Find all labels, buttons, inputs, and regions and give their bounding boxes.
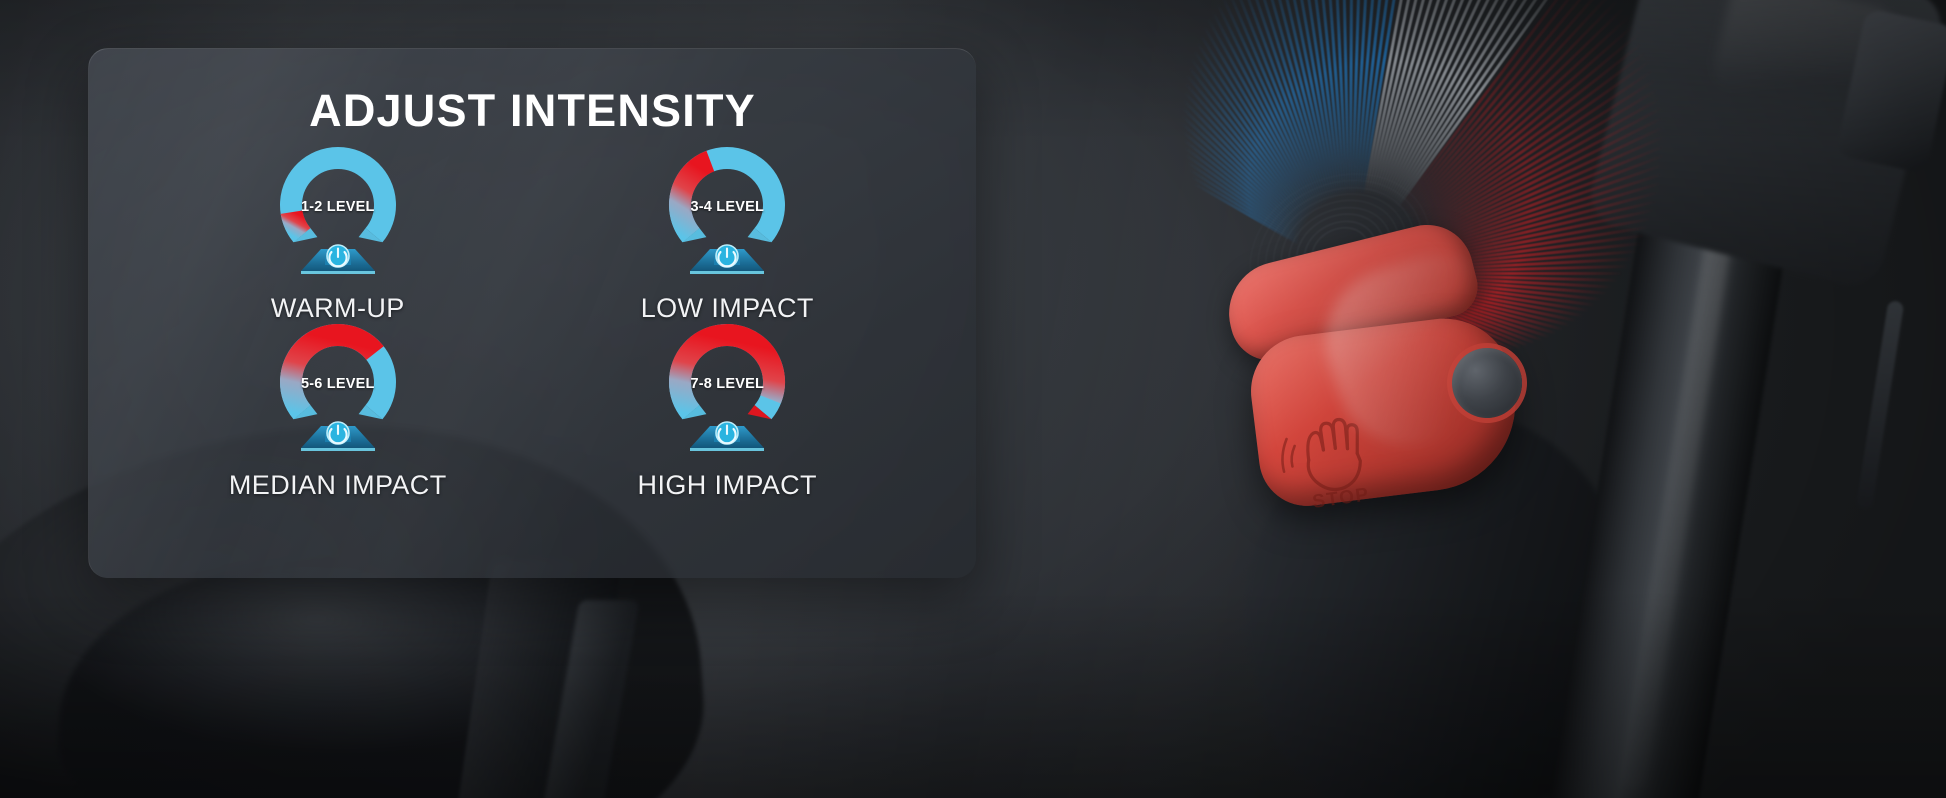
gauge-level-7-8[interactable]: 7-8 LEVEL	[662, 324, 792, 452]
gauge-stand-edge	[301, 448, 375, 451]
gauge-stand-shape	[684, 420, 770, 454]
gauge-stand	[684, 243, 770, 277]
gauge-level-label: 7-8 LEVEL	[662, 376, 792, 392]
intensity-level-caption: LOW IMPACT	[641, 293, 814, 324]
gauge-stand-edge	[690, 271, 764, 274]
intensity-panel: ADJUST INTENSITY 1-2 LEVEL	[88, 48, 976, 578]
gauge-level-label: 5-6 LEVEL	[273, 376, 403, 392]
gauge-stand-edge	[690, 448, 764, 451]
gauge-level-label: 3-4 LEVEL	[662, 199, 792, 215]
gauge-level-label: 1-2 LEVEL	[273, 199, 403, 215]
gauge-stand	[684, 420, 770, 454]
gauge-level-5-6[interactable]: 5-6 LEVEL	[273, 324, 403, 452]
intensity-level-caption: WARM-UP	[271, 293, 405, 324]
intensity-level-cell[interactable]: 3-4 LEVEL	[533, 147, 923, 324]
intensity-level-cell[interactable]: 1-2 LEVEL	[143, 147, 533, 324]
gauge-stand	[295, 243, 381, 277]
gauge-stand-shape	[295, 243, 381, 277]
gauge-stand-edge	[301, 271, 375, 274]
intensity-level-cell[interactable]: 5-6 LEVEL	[143, 324, 533, 501]
gauge-fill-red	[291, 212, 301, 235]
intensity-level-caption: HIGH IMPACT	[638, 470, 817, 501]
gauge-level-3-4[interactable]: 3-4 LEVEL	[662, 147, 792, 275]
gauge-fill-red	[291, 335, 375, 412]
intensity-level-grid: 1-2 LEVEL	[89, 147, 976, 501]
page-title: ADJUST INTENSITY	[89, 85, 976, 137]
gauge-stand	[295, 420, 381, 454]
intensity-level-cell[interactable]: 7-8 LEVEL	[533, 324, 923, 501]
gauge-stand-shape	[295, 420, 381, 454]
intensity-level-caption: MEDIAN IMPACT	[229, 470, 447, 501]
gauge-stand-shape	[684, 243, 770, 277]
gauge-level-1-2[interactable]: 1-2 LEVEL	[273, 147, 403, 275]
